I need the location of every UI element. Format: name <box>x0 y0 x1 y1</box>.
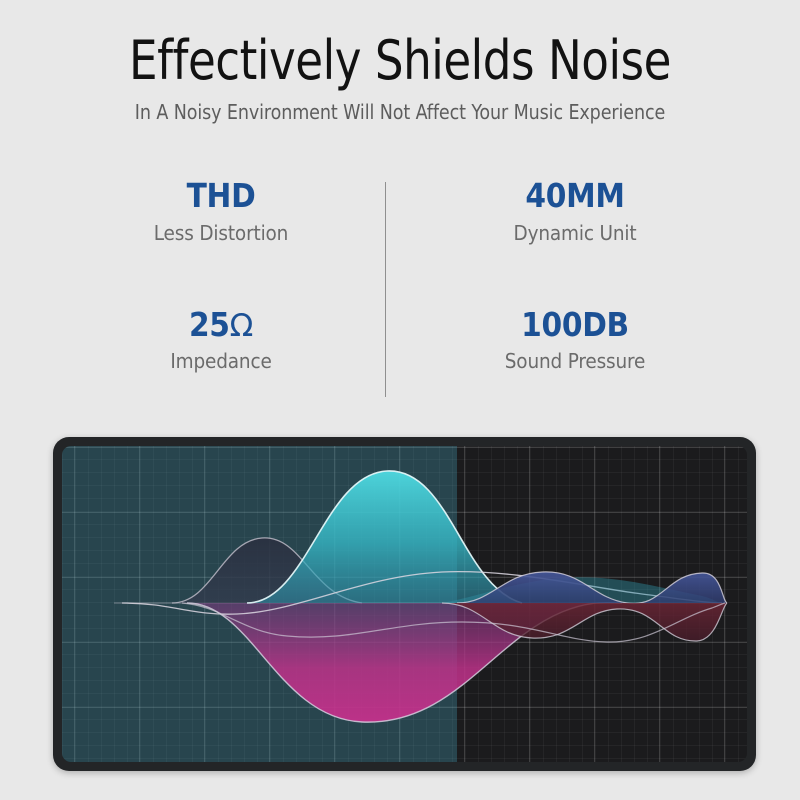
spec-label: Impedance <box>170 349 271 373</box>
spec-value-text: 25 <box>189 305 230 344</box>
spec-value: 40MM <box>525 178 624 215</box>
spec-value: 100DB <box>521 307 629 344</box>
spec-label: Sound Pressure <box>505 349 645 373</box>
waveform-screen <box>62 446 747 762</box>
device-display-panel <box>53 437 756 771</box>
spec-value-text: 40MM <box>525 176 624 215</box>
spec-value-text: 100DB <box>521 305 629 344</box>
header: Effectively Shields Noise In A Noisy Env… <box>0 0 800 124</box>
series-main-cyan-peak <box>247 471 522 603</box>
spec-item-driver-size: 40MM Dynamic Unit <box>400 178 740 291</box>
spec-value: 25Ω <box>189 307 253 344</box>
spec-label: Dynamic Unit <box>514 221 637 245</box>
page-title: Effectively Shields Noise <box>28 33 772 89</box>
spec-item-sound-pressure: 100DB Sound Pressure <box>400 291 740 404</box>
spec-value-text: THD <box>187 176 256 215</box>
waveform-chart <box>62 446 747 762</box>
spec-item-impedance: 25Ω Impedance <box>60 291 400 404</box>
spec-label: Less Distortion <box>154 221 288 245</box>
page-subtitle: In A Noisy Environment Will Not Affect Y… <box>20 100 780 124</box>
ohm-symbol: Ω <box>230 308 253 344</box>
spec-item-thd: THD Less Distortion <box>60 178 400 291</box>
promo-page: Effectively Shields Noise In A Noisy Env… <box>0 0 800 800</box>
spec-grid-section: THD Less Distortion 40MM Dynamic Unit 25… <box>60 178 740 403</box>
spec-value: THD <box>187 178 256 215</box>
